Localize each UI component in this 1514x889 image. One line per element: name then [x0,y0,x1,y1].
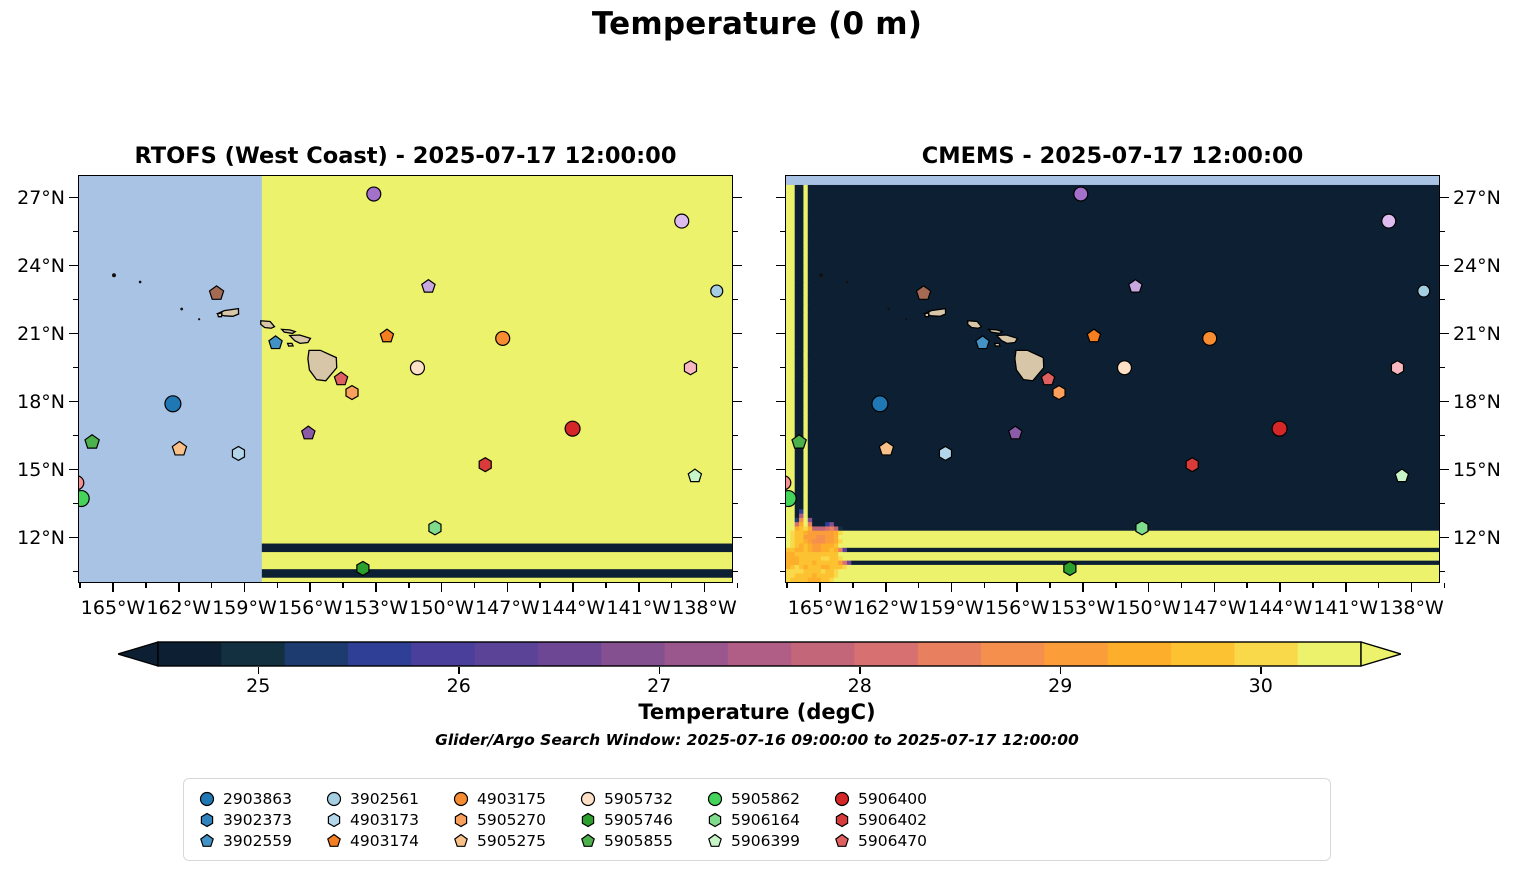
y-tick-label: 18°N [17,391,65,413]
y-tick-minor [733,503,738,505]
circle-marker-icon [577,790,599,808]
y-tick-major [776,265,785,267]
y-tick-minor [73,367,78,369]
y-tick-label: 27°N [1453,187,1501,209]
y-tick-minor [1440,231,1445,233]
y-tick-minor [780,435,785,437]
x-tick-minor [605,583,607,588]
hexagon-marker-icon [196,811,218,829]
x-tick-minor [539,583,541,588]
pentagon-marker-icon [704,832,726,850]
y-tick-minor [733,571,738,573]
y-tick-major [69,469,78,471]
map-panel-rtofs: RTOFS (West Coast) - 2025-07-17 12:00:00… [78,175,733,583]
y-tick-major [1440,469,1449,471]
x-tick-major [951,583,953,592]
y-tick-label: 12°N [17,527,65,549]
colorbar[interactable]: 252627282930 [118,641,1401,667]
legend-item-label: 4903173 [345,811,419,829]
x-tick-major [572,583,574,592]
colorbar-title: Temperature (degC) [0,700,1514,724]
legend-item-5906400[interactable]: 5906400 [831,790,958,808]
legend-item-label: 5905746 [599,811,673,829]
x-tick-major [1411,583,1413,592]
legend-item-label: 5905275 [472,832,546,850]
pentagon-marker-icon [831,832,853,850]
panel-title-cmems: CMEMS - 2025-07-17 12:00:00 [745,143,1480,169]
colorbar-tick-label: 29 [1048,675,1072,697]
legend-item-5905855[interactable]: 5905855 [577,832,704,850]
y-tick-label: 15°N [1453,459,1501,481]
x-tick-minor [79,583,81,588]
legend-item-5906402[interactable]: 5906402 [831,811,958,829]
figure-title: Temperature (0 m) [0,6,1514,42]
y-tick-minor [780,367,785,369]
x-tick-label: 156°W [278,597,343,619]
y-tick-minor [73,503,78,505]
legend-item-4903174[interactable]: 4903174 [323,832,450,850]
legend-item-label: 4903174 [345,832,419,850]
y-tick-major [69,401,78,403]
hexagon-marker-icon [831,811,853,829]
legend-item-label: 2903863 [218,790,292,808]
legend-item-5905270[interactable]: 5905270 [450,811,577,829]
y-tick-major [1440,265,1449,267]
y-tick-label: 24°N [17,255,65,277]
y-tick-major [69,197,78,199]
legend-item-label: 5905732 [599,790,673,808]
y-tick-minor [1440,503,1445,505]
y-tick-major [733,265,742,267]
x-tick-major [112,583,114,592]
circle-marker-icon [450,790,472,808]
y-tick-major [1440,333,1449,335]
x-tick-major [1016,583,1018,592]
pentagon-marker-icon [450,832,472,850]
y-tick-minor [1440,571,1445,573]
legend-item-2903863[interactable]: 2903863 [196,790,323,808]
colorbar-tick [659,667,661,674]
x-tick-label: 138°W [1379,597,1444,619]
y-tick-major [776,197,785,199]
colorbar-tick-label: 26 [447,675,471,697]
x-tick-major [1082,583,1084,592]
x-tick-minor [852,583,854,588]
circle-marker-icon [704,790,726,808]
colorbar-tick [258,667,260,674]
y-tick-major [69,537,78,539]
legend-item-4903175[interactable]: 4903175 [450,790,577,808]
pentagon-marker-icon [577,832,599,850]
colorbar-gradient [118,641,1401,667]
y-tick-major [776,469,785,471]
circle-marker-icon [196,790,218,808]
y-tick-label: 18°N [1453,391,1501,413]
x-tick-minor [1181,583,1183,588]
platform-legend: 2903863390256149031755905732590586259064… [183,778,1331,861]
legend-item-label: 4903175 [472,790,546,808]
colorbar-tick-label: 28 [848,675,872,697]
legend-item-label: 5905270 [472,811,546,829]
x-tick-label: 162°W [853,597,918,619]
x-tick-major [178,583,180,592]
x-tick-label: 165°W [81,597,146,619]
x-tick-minor [474,583,476,588]
y-tick-major [1440,197,1449,199]
y-tick-minor [733,231,738,233]
y-tick-minor [733,299,738,301]
colorbar-tick [1060,667,1062,674]
x-tick-major [507,583,509,592]
x-tick-label: 144°W [541,597,606,619]
circle-marker-icon [831,790,853,808]
legend-item-5906164[interactable]: 5906164 [704,811,831,829]
x-tick-minor [408,583,410,588]
x-tick-major [885,583,887,592]
x-tick-minor [1246,583,1248,588]
circle-marker-icon [323,790,345,808]
x-tick-label: 165°W [788,597,853,619]
legend-item-label: 5906164 [726,811,800,829]
x-tick-minor [1378,583,1380,588]
y-tick-minor [73,571,78,573]
y-tick-major [733,197,742,199]
figure-canvas: Temperature (0 m) RTOFS (West Coast) - 2… [0,0,1514,889]
y-tick-minor [1440,367,1445,369]
x-tick-label: 141°W [607,597,672,619]
legend-item-5905746[interactable]: 5905746 [577,811,704,829]
legend-row: 3902373490317359052705905746590616459064… [196,809,1320,830]
legend-item-label: 5905862 [726,790,800,808]
panel-title-rtofs: RTOFS (West Coast) - 2025-07-17 12:00:00 [38,143,773,169]
colorbar-tick [859,667,861,674]
y-tick-minor [1440,435,1445,437]
y-tick-major [733,537,742,539]
y-tick-major [776,537,785,539]
x-tick-minor [918,583,920,588]
x-tick-major [441,583,443,592]
hexagon-marker-icon [704,811,726,829]
x-tick-major [309,583,311,592]
search-window-annotation: Glider/Argo Search Window: 2025-07-16 09… [0,731,1514,749]
legend-item-4903173[interactable]: 4903173 [323,811,450,829]
y-tick-minor [73,299,78,301]
x-tick-major [1214,583,1216,592]
y-tick-label: 24°N [1453,255,1501,277]
legend-item-label: 5906400 [853,790,927,808]
legend-row: 3902559490317459052755905855590639959064… [196,830,1320,851]
x-tick-major [819,583,821,592]
colorbar-tick-label: 27 [647,675,671,697]
x-tick-minor [671,583,673,588]
legend-item-label: 5906470 [853,832,927,850]
legend-item-label: 3902559 [218,832,292,850]
x-tick-major [704,583,706,592]
y-tick-minor [73,435,78,437]
x-tick-label: 153°W [1051,597,1116,619]
legend-item-label: 3902561 [345,790,419,808]
legend-item-5905732[interactable]: 5905732 [577,790,704,808]
legend-item-5906399[interactable]: 5906399 [704,832,831,850]
x-tick-label: 138°W [672,597,737,619]
x-tick-major [638,583,640,592]
y-tick-minor [73,231,78,233]
x-tick-label: 156°W [985,597,1050,619]
y-tick-minor [733,435,738,437]
y-tick-major [69,265,78,267]
x-tick-minor [342,583,344,588]
x-tick-label: 153°W [344,597,409,619]
x-tick-minor [1312,583,1314,588]
x-tick-label: 150°W [1116,597,1181,619]
x-tick-label: 162°W [146,597,211,619]
y-tick-minor [780,571,785,573]
colorbar-tick-label: 25 [246,675,270,697]
temperature-field-cmems [786,176,1439,582]
x-tick-major [244,583,246,592]
x-tick-label: 159°W [919,597,984,619]
y-tick-label: 27°N [17,187,65,209]
x-tick-minor [786,583,788,588]
x-tick-minor [1049,583,1051,588]
y-tick-minor [780,231,785,233]
y-tick-minor [780,299,785,301]
x-tick-major [375,583,377,592]
hexagon-marker-icon [577,811,599,829]
x-tick-label: 144°W [1248,597,1313,619]
x-tick-minor [1115,583,1117,588]
legend-row: 2903863390256149031755905732590586259064… [196,788,1320,809]
legend-item-label: 5906402 [853,811,927,829]
temperature-field-rtofs [79,176,732,582]
x-tick-label: 159°W [212,597,277,619]
legend-item-5905275[interactable]: 5905275 [450,832,577,850]
x-tick-minor [737,583,739,588]
y-tick-major [69,333,78,335]
y-tick-major [1440,401,1449,403]
x-tick-minor [1444,583,1446,588]
hexagon-marker-icon [323,811,345,829]
x-tick-label: 150°W [409,597,474,619]
pentagon-marker-icon [196,832,218,850]
x-tick-major [1148,583,1150,592]
x-tick-major [1279,583,1281,592]
x-tick-minor [984,583,986,588]
y-tick-major [733,401,742,403]
x-tick-major [1345,583,1347,592]
y-tick-major [776,333,785,335]
hexagon-marker-icon [450,811,472,829]
y-tick-major [776,401,785,403]
colorbar-tick-label: 30 [1249,675,1273,697]
x-tick-label: 147°W [1182,597,1247,619]
map-panel-cmems: CMEMS - 2025-07-17 12:00:00 12°N15°N18°N… [785,175,1440,583]
x-tick-label: 141°W [1314,597,1379,619]
y-tick-label: 15°N [17,459,65,481]
x-tick-label: 147°W [475,597,540,619]
y-tick-minor [733,367,738,369]
colorbar-tick [458,667,460,674]
y-tick-major [733,333,742,335]
legend-item-label: 3902373 [218,811,292,829]
legend-item-label: 5905855 [599,832,673,850]
x-tick-minor [277,583,279,588]
legend-item-3902561[interactable]: 3902561 [323,790,450,808]
pentagon-marker-icon [323,832,345,850]
legend-item-5905862[interactable]: 5905862 [704,790,831,808]
map-canvas-cmems[interactable] [785,175,1440,583]
x-tick-minor [211,583,213,588]
colorbar-tick [1260,667,1262,674]
y-tick-label: 12°N [1453,527,1501,549]
y-tick-minor [780,503,785,505]
x-tick-minor [145,583,147,588]
y-tick-major [733,469,742,471]
legend-item-3902559[interactable]: 3902559 [196,832,323,850]
y-tick-major [1440,537,1449,539]
y-tick-label: 21°N [17,323,65,345]
legend-item-3902373[interactable]: 3902373 [196,811,323,829]
y-tick-label: 21°N [1453,323,1501,345]
map-canvas-rtofs[interactable] [78,175,733,583]
y-tick-minor [1440,299,1445,301]
legend-item-5906470[interactable]: 5906470 [831,832,958,850]
legend-item-label: 5906399 [726,832,800,850]
